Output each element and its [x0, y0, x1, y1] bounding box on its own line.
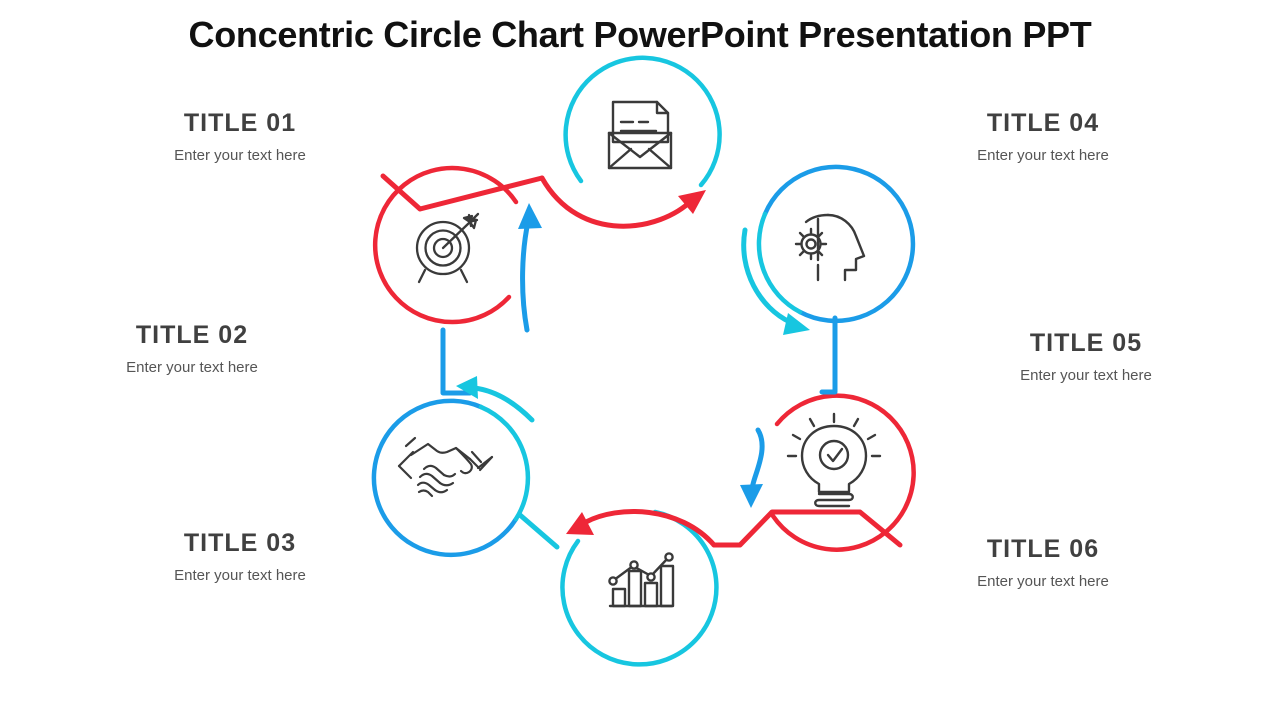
label-subtitle-05: Enter your text here: [936, 367, 1236, 385]
label-block-02[interactable]: TITLE 02 Enter your text here: [42, 322, 342, 377]
label-title-04: TITLE 04: [893, 110, 1193, 138]
connector-zigzag-bottom-to-bottomleft: [520, 515, 557, 547]
ring-top-right-accent: [759, 214, 800, 312]
lightbulb-check-icon: [788, 414, 880, 506]
label-title-05: TITLE 05: [936, 330, 1236, 358]
ring-bottom: [562, 512, 716, 664]
connector-arc-top-to-topright: [542, 178, 692, 226]
label-subtitle-04: Enter your text here: [893, 147, 1193, 165]
label-block-06[interactable]: TITLE 06 Enter your text here: [893, 536, 1193, 591]
label-block-05[interactable]: TITLE 05 Enter your text here: [936, 330, 1236, 385]
label-block-04[interactable]: TITLE 04 Enter your text here: [893, 110, 1193, 165]
label-block-03[interactable]: TITLE 03 Enter your text here: [90, 530, 390, 585]
ring-top-right: [765, 167, 913, 321]
label-title-01: TITLE 01: [90, 110, 390, 138]
label-title-06: TITLE 06: [893, 536, 1193, 564]
ring-bottom-right: [773, 396, 914, 550]
connector-arc-left-to-topleft: [523, 222, 528, 330]
label-subtitle-01: Enter your text here: [90, 147, 390, 165]
bar-chart-icon: [609, 553, 673, 606]
connector-arc-bottom-left: [586, 512, 714, 545]
ring-bottom-left-accent: [481, 407, 528, 519]
slide-canvas: Concentric Circle Chart PowerPoint Prese…: [0, 0, 1280, 720]
label-title-02: TITLE 02: [42, 322, 342, 350]
connector-zigzag-topright-down: [822, 318, 835, 392]
label-subtitle-03: Enter your text here: [90, 567, 390, 585]
arrowhead-left-to-topleft-icon: [518, 203, 542, 229]
label-block-01[interactable]: TITLE 01 Enter your text here: [90, 110, 390, 165]
label-title-03: TITLE 03: [90, 530, 390, 558]
label-subtitle-02: Enter your text here: [42, 359, 342, 377]
label-subtitle-06: Enter your text here: [893, 573, 1193, 591]
email-document-icon: [609, 102, 671, 168]
arrowhead-bottom-left-icon: [566, 512, 594, 535]
ring-bottom-left: [374, 401, 516, 555]
arrowhead-topright-down-icon: [740, 484, 763, 508]
handshake-icon: [399, 438, 492, 496]
arrowhead-up-left-icon: [456, 376, 478, 399]
target-arrow-icon: [417, 214, 478, 282]
connector-arc-topright-down: [752, 430, 762, 490]
head-gear-icon: [796, 215, 864, 280]
connector-arc-up-left: [474, 388, 532, 420]
